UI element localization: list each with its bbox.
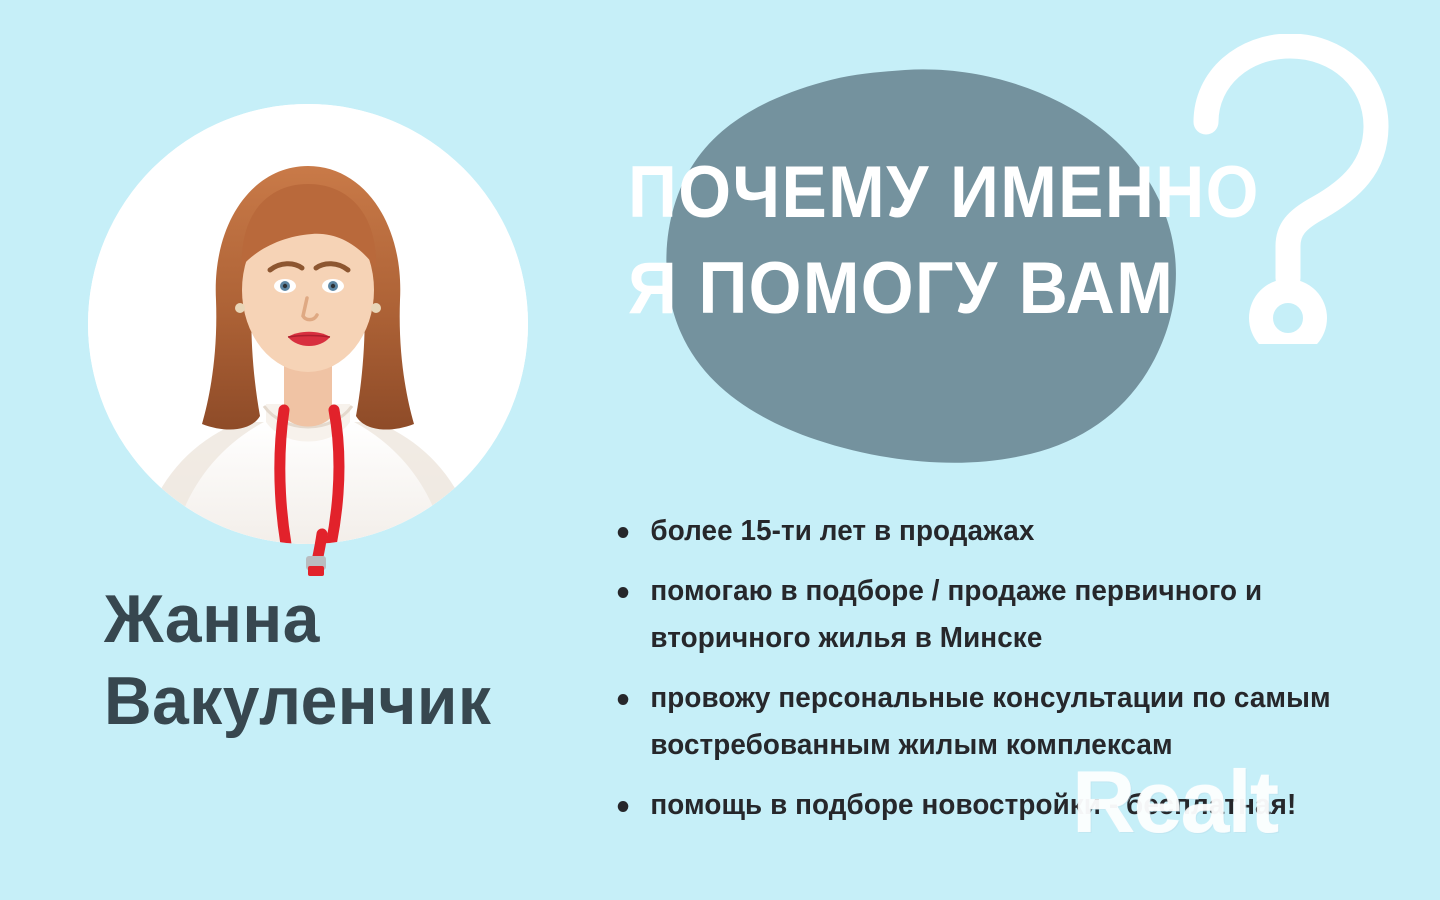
benefits-list: более 15-ти лет в продажах помогаю в под…: [612, 508, 1422, 842]
headline-line-2: Я ПОМОГУ ВАМ: [628, 241, 1279, 337]
portrait-photo: [88, 104, 528, 574]
benefit-text: более 15-ти лет в продажах: [650, 515, 1034, 547]
benefit-item: помогаю в подборе / продаже первичного и…: [612, 568, 1390, 662]
agent-last-name: Вакуленчик: [104, 660, 608, 742]
bullet-dot-icon: [618, 527, 629, 538]
benefit-item: помощь в подборе новостройки - бесплатна…: [612, 782, 1390, 829]
benefit-item: провожу персональные консультации по сам…: [612, 675, 1390, 769]
headline: ПОЧЕМУ ИМЕННО Я ПОМОГУ ВАМ: [628, 145, 1328, 337]
benefit-text: помощь в подборе новостройки - бесплатна…: [650, 789, 1296, 821]
benefit-text: помогаю в подборе / продаже первичного и…: [650, 575, 1262, 654]
bullet-dot-icon: [618, 587, 629, 598]
agent-name: Жанна Вакуленчик: [104, 578, 624, 742]
agent-first-name: Жанна: [104, 578, 608, 660]
bullet-dot-icon: [618, 801, 629, 812]
agent-portrait: [88, 104, 528, 544]
benefit-text: провожу персональные консультации по сам…: [650, 682, 1330, 761]
benefit-item: более 15-ти лет в продажах: [612, 508, 1390, 555]
headline-line-1: ПОЧЕМУ ИМЕННО: [628, 145, 1279, 241]
bullet-dot-icon: [618, 694, 629, 705]
promo-poster: ПОЧЕМУ ИМЕННО Я ПОМОГУ ВАМ: [0, 0, 1440, 900]
